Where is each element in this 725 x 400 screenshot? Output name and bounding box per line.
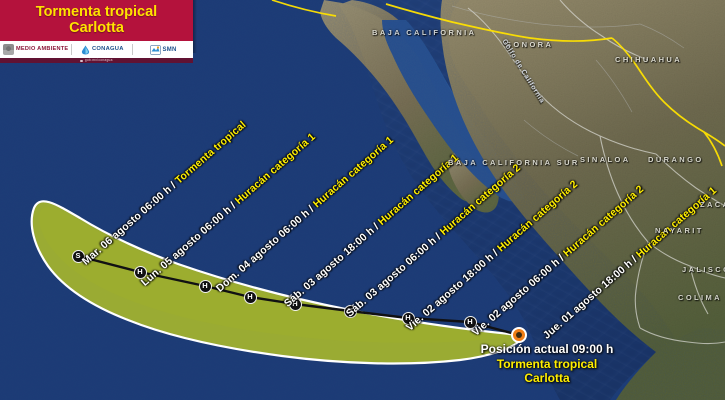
- medio-ambiente-label: MEDIO AMBIENTE: [16, 47, 68, 53]
- smn-label: SMN: [163, 47, 177, 53]
- track-marker-h3[interactable]: H: [244, 291, 257, 304]
- gob-strip-label: gob.mx/conagua: [85, 59, 113, 62]
- storm-title-line1: Tormenta tropical: [6, 4, 187, 20]
- water-drop-icon: [81, 45, 90, 55]
- medio-ambiente-logo: MEDIO AMBIENTE: [3, 41, 68, 58]
- eagle-emblem-icon: [3, 44, 14, 55]
- logo-divider-1: [71, 44, 72, 55]
- storm-title-line2: Carlotta: [6, 20, 187, 36]
- hurricane-forecast-map: SHHHHHHH Mar. 06 agosto 06:00 h / Tormen…: [0, 0, 725, 400]
- weather-service-icon: [150, 45, 161, 55]
- logo-divider-2: [132, 44, 133, 55]
- conagua-logo: CONAGUA: [75, 41, 129, 58]
- current-position-marker[interactable]: [511, 327, 527, 343]
- smn-logo: SMN: [136, 41, 190, 58]
- track-marker-h6[interactable]: H: [402, 312, 415, 325]
- conagua-label: CONAGUA: [92, 47, 124, 53]
- agency-logo-bar: MEDIO AMBIENTE CONAGUA SMN: [0, 41, 193, 58]
- track-marker-h2[interactable]: H: [199, 280, 212, 293]
- banner-shadow-edge: [193, 0, 197, 53]
- gob-mx-strip: gob.mx/conagua: [0, 58, 193, 63]
- track-marker-h5[interactable]: H: [344, 305, 357, 318]
- track-marker-h7[interactable]: H: [464, 316, 477, 329]
- header-banner: Tormenta tropical Carlotta MEDIO AMBIENT…: [0, 0, 193, 63]
- current-position-eye: [516, 332, 522, 338]
- storm-title-bar: Tormenta tropical Carlotta: [0, 0, 193, 41]
- gob-icon: [80, 60, 83, 63]
- track-marker-s[interactable]: S: [72, 250, 85, 263]
- track-marker-h1[interactable]: H: [134, 266, 147, 279]
- track-marker-h4[interactable]: H: [289, 298, 302, 311]
